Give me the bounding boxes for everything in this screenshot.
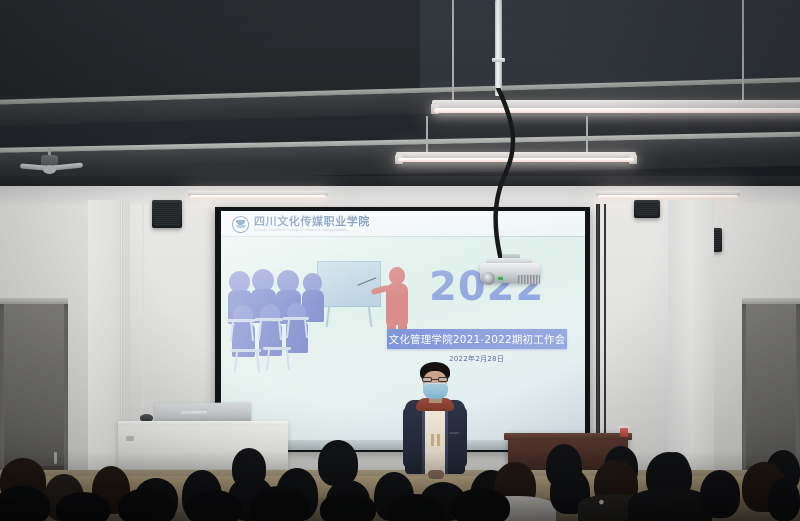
slide-header: 四川文化传媒职业学院 Sichuan Vocational College of… — [221, 211, 585, 237]
audience-head — [318, 440, 358, 486]
ceiling-slab-left — [0, 0, 430, 100]
projector-vent — [518, 275, 540, 284]
slide-title-text: 文化管理学院2021-2022期初工作会 — [389, 332, 566, 347]
projector-lens-icon — [482, 272, 495, 285]
presenter-glasses-icon — [422, 377, 448, 382]
wall-column-right — [668, 200, 714, 490]
wall-conduit-left — [120, 202, 123, 432]
projector-status-led — [498, 277, 503, 280]
doorway-left[interactable] — [0, 298, 68, 480]
ceiling-projector — [474, 258, 546, 288]
audience-head-foreground — [56, 492, 110, 521]
college-crest-icon — [232, 216, 249, 233]
standing-presenter — [403, 362, 467, 487]
audience-head-foreground — [118, 488, 176, 521]
wall-conduit-right-2 — [604, 204, 606, 442]
console-knob[interactable] — [126, 436, 134, 441]
presenter-face-mask — [423, 383, 448, 399]
classroom-photo: 四川文化传媒职业学院 Sichuan Vocational College of… — [0, 0, 800, 521]
audience-head-foreground — [250, 486, 310, 521]
audience-head-foreground — [186, 490, 242, 521]
illustration-whiteboard — [317, 261, 381, 307]
classroom-lecture-illustration — [229, 257, 429, 387]
wall-speaker-left — [152, 200, 182, 228]
projector-pole-collar — [492, 58, 505, 62]
audience-head-foreground — [452, 488, 510, 521]
wall-speaker-right — [634, 200, 660, 218]
wall-conduit-left-2 — [142, 200, 144, 438]
audience-head — [768, 478, 800, 521]
slide-title-band: 文化管理学院2021-2022期初工作会 — [387, 329, 567, 349]
slide-institution-name-en: Sichuan Vocational College of Culture & … — [254, 229, 370, 232]
projector-mount-pole — [495, 0, 502, 96]
wall-conduit-right — [596, 204, 600, 444]
ceiling-fan-icon — [22, 148, 84, 176]
audience-head-foreground — [388, 494, 442, 521]
audience-head — [700, 470, 740, 518]
podium-cup — [620, 428, 628, 437]
audience-head-foreground — [320, 492, 376, 521]
slide-institution-name-cn: 四川文化传媒职业学院 — [254, 216, 370, 227]
